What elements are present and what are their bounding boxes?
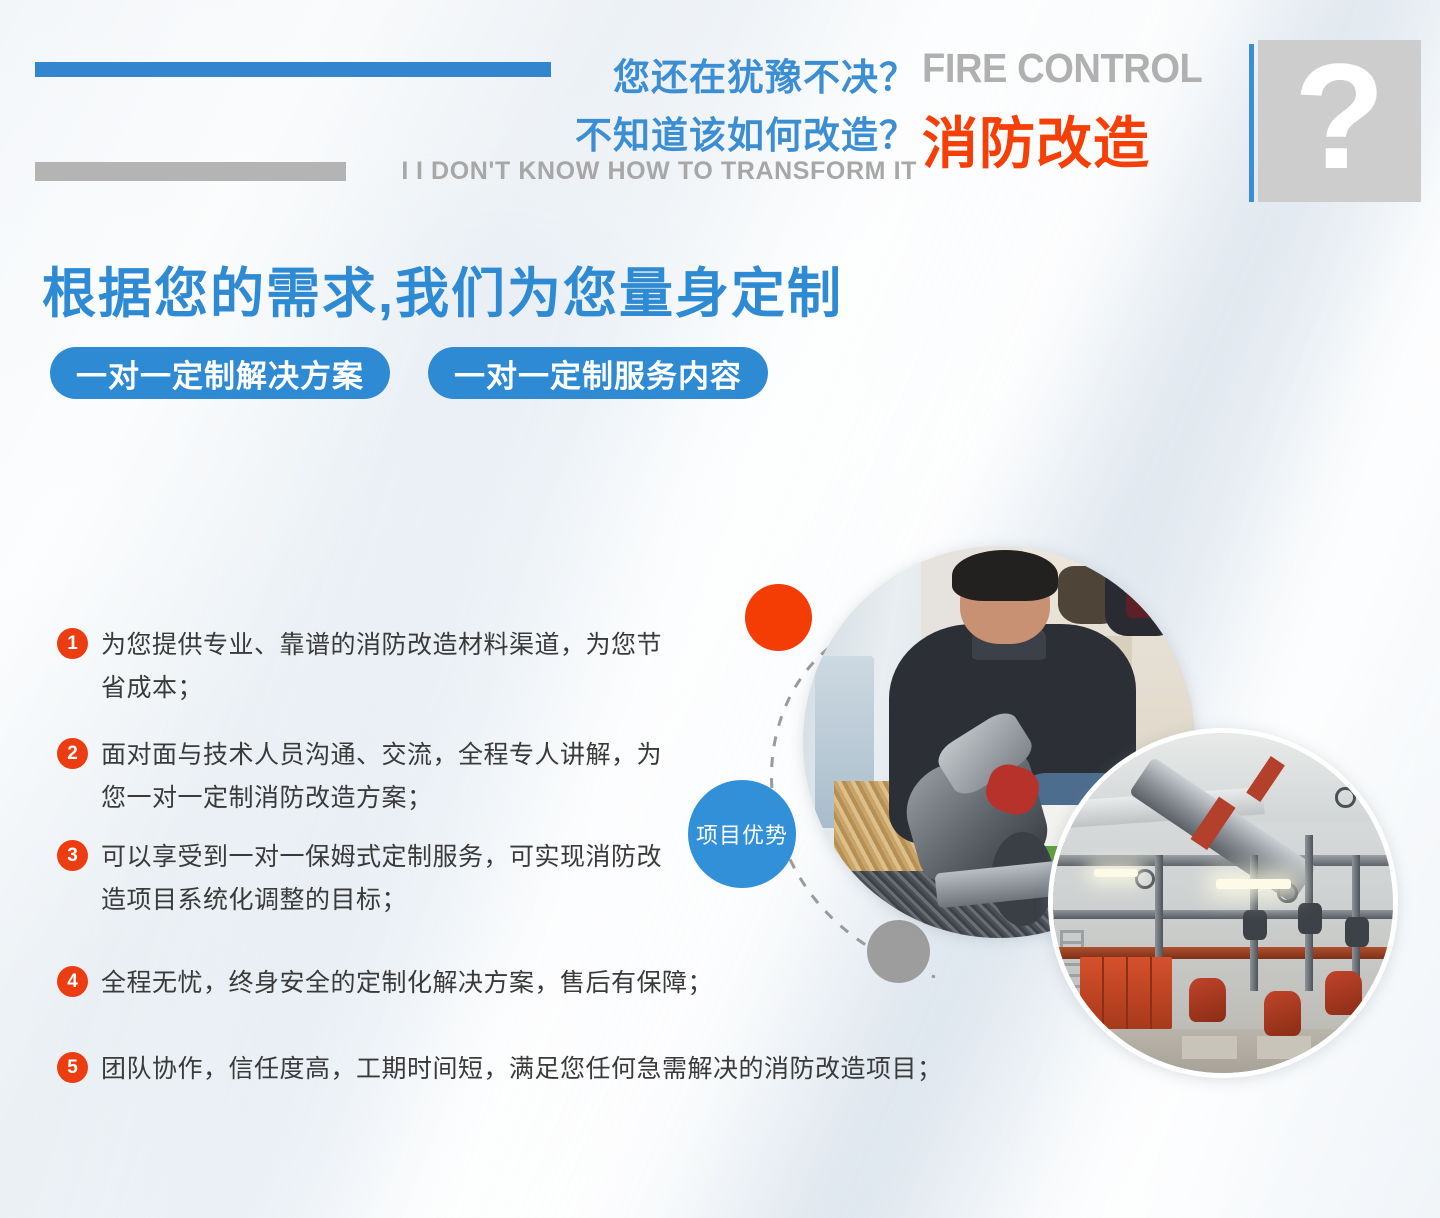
- list-item: 1 为您提供专业、靠谱的消防改造材料渠道，为您节省成本；: [57, 624, 677, 710]
- page-title: 根据您的需求,我们为您量身定制: [42, 249, 843, 328]
- gray-rule-bar: [35, 162, 346, 181]
- question-mark-box: ?: [1258, 40, 1421, 202]
- list-item-text: 可以享受到一对一保姆式定制服务，可实现消防改造项目系统化调整的目标；: [101, 836, 677, 922]
- list-item: 2 面对面与技术人员沟通、交流，全程专人讲解，为您一对一定制消防改造方案；: [57, 734, 677, 820]
- list-item-text: 面对面与技术人员沟通、交流，全程专人讲解，为您一对一定制消防改造方案；: [101, 734, 677, 820]
- list-item-text: 全程无忧，终身安全的定制化解决方案，售后有保障；: [101, 962, 713, 1005]
- pill-custom-solution[interactable]: 一对一定制解决方案: [50, 347, 390, 399]
- question-box-blue-rule: [1249, 44, 1254, 202]
- promo-page: 您还在犹豫不决？ 不知道该如何改造？ II DON'T KNOW HOW TO …: [0, 0, 1440, 1218]
- header-english-subtitle-text: I DON'T KNOW HOW TO TRANSFORM IT: [416, 157, 917, 185]
- header-question-line-2: 不知道该如何改造？: [575, 105, 917, 159]
- page-header: 您还在犹豫不决？ 不知道该如何改造？ II DON'T KNOW HOW TO …: [0, 0, 1440, 215]
- vertical-tick-icon: I: [401, 157, 409, 186]
- fire-pump-room-photo: [1048, 728, 1398, 1078]
- list-item: 3 可以享受到一对一保姆式定制服务，可实现消防改造项目系统化调整的目标；: [57, 836, 677, 922]
- list-item-number: 4: [57, 966, 88, 997]
- graphic-zone: 项目优势: [660, 520, 1440, 1120]
- list-item-number: 1: [57, 628, 88, 659]
- project-advantage-badge: 项目优势: [688, 780, 796, 888]
- header-chinese-brand: 消防改造: [922, 99, 1150, 180]
- list-item-number: 5: [57, 1052, 88, 1083]
- header-question-line-1: 您还在犹豫不决？: [613, 47, 917, 101]
- list-item-number: 3: [57, 840, 88, 871]
- header-english-brand: FIRE CONTROL: [922, 45, 1202, 92]
- pill-group: 一对一定制解决方案 一对一定制服务内容: [50, 347, 768, 399]
- pill-custom-service[interactable]: 一对一定制服务内容: [428, 347, 768, 399]
- list-item-number: 2: [57, 738, 88, 769]
- accent-dot-orange: [745, 584, 812, 651]
- header-english-subtitle: II DON'T KNOW HOW TO TRANSFORM IT: [401, 157, 917, 186]
- question-mark-icon: ?: [1294, 41, 1386, 191]
- blue-rule-bar: [35, 62, 551, 77]
- list-item-text: 为您提供专业、靠谱的消防改造材料渠道，为您节省成本；: [101, 624, 677, 710]
